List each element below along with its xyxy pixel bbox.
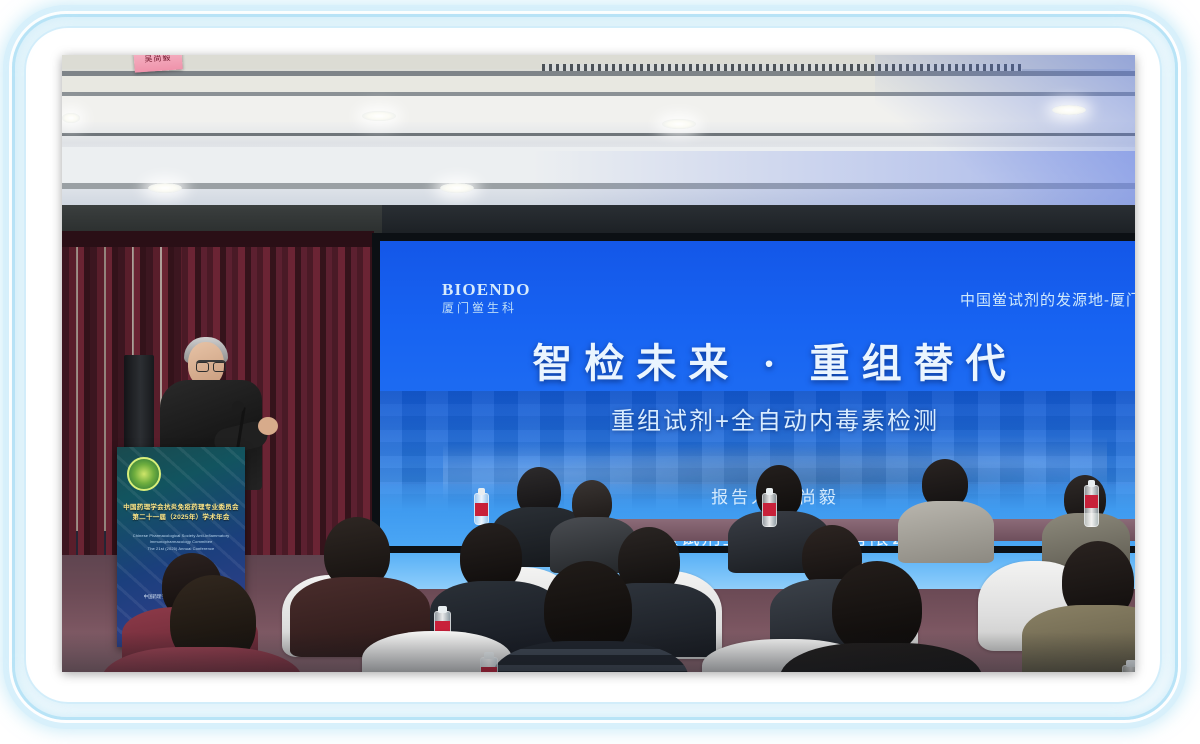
downlight-2 bbox=[62, 113, 80, 123]
downlight-1 bbox=[362, 111, 396, 121]
water-bottle bbox=[1084, 485, 1099, 527]
podium-title-en-3: The 21st (2025) Annual Conference bbox=[123, 546, 239, 552]
ceiling bbox=[62, 55, 1135, 207]
bioendo-logo: BIOENDO 厦门鲎生科 bbox=[442, 281, 531, 314]
attendee-torso bbox=[898, 501, 994, 563]
logo-text-cn: 厦门鲎生科 bbox=[442, 302, 531, 314]
water-bottle bbox=[762, 493, 777, 527]
podium-title-line1: 中国药理学会抗炎免疫药理专业委员会 bbox=[123, 503, 239, 513]
downlight-5 bbox=[662, 119, 696, 129]
slide-title: 智检未来 · 重组替代 bbox=[380, 331, 1135, 389]
presenter-glasses bbox=[196, 360, 226, 370]
ceiling-blue-wash-2 bbox=[532, 151, 1135, 207]
microphone-head bbox=[232, 401, 244, 413]
slide-subtitle: 重组试剂+全自动内毒素检测 bbox=[380, 401, 1135, 436]
downlight-4 bbox=[440, 183, 474, 193]
podium-title-cn: 中国药理学会抗炎免疫药理专业委员会 第二十一届（2025年）学术年会 bbox=[123, 503, 239, 523]
photo-bottom-vignette bbox=[62, 632, 1135, 672]
logo-text-en: BIOENDO bbox=[442, 281, 531, 298]
downlight-3 bbox=[148, 183, 182, 193]
slide-tagline: 中国鲎试剂的发源地-厦门 bbox=[960, 289, 1135, 310]
society-emblem-icon bbox=[127, 457, 161, 491]
water-bottle bbox=[474, 493, 489, 525]
downlight-6 bbox=[1052, 105, 1086, 115]
screenshot-root: BIOENDO 厦门鲎生科 中国鲎试剂的发源地-厦门 智检未来 · 重组替代 重… bbox=[0, 0, 1200, 744]
podium-title-line2: 第二十一届（2025年）学术年会 bbox=[123, 513, 239, 523]
podium-title-en: Chinese Pharmacological Society Anti-inf… bbox=[123, 533, 239, 552]
conference-photo: BIOENDO 厦门鲎生科 中国鲎试剂的发源地-厦门 智检未来 · 重组替代 重… bbox=[62, 55, 1135, 672]
presenter-hand bbox=[258, 417, 278, 435]
curtain-valance bbox=[62, 231, 374, 247]
